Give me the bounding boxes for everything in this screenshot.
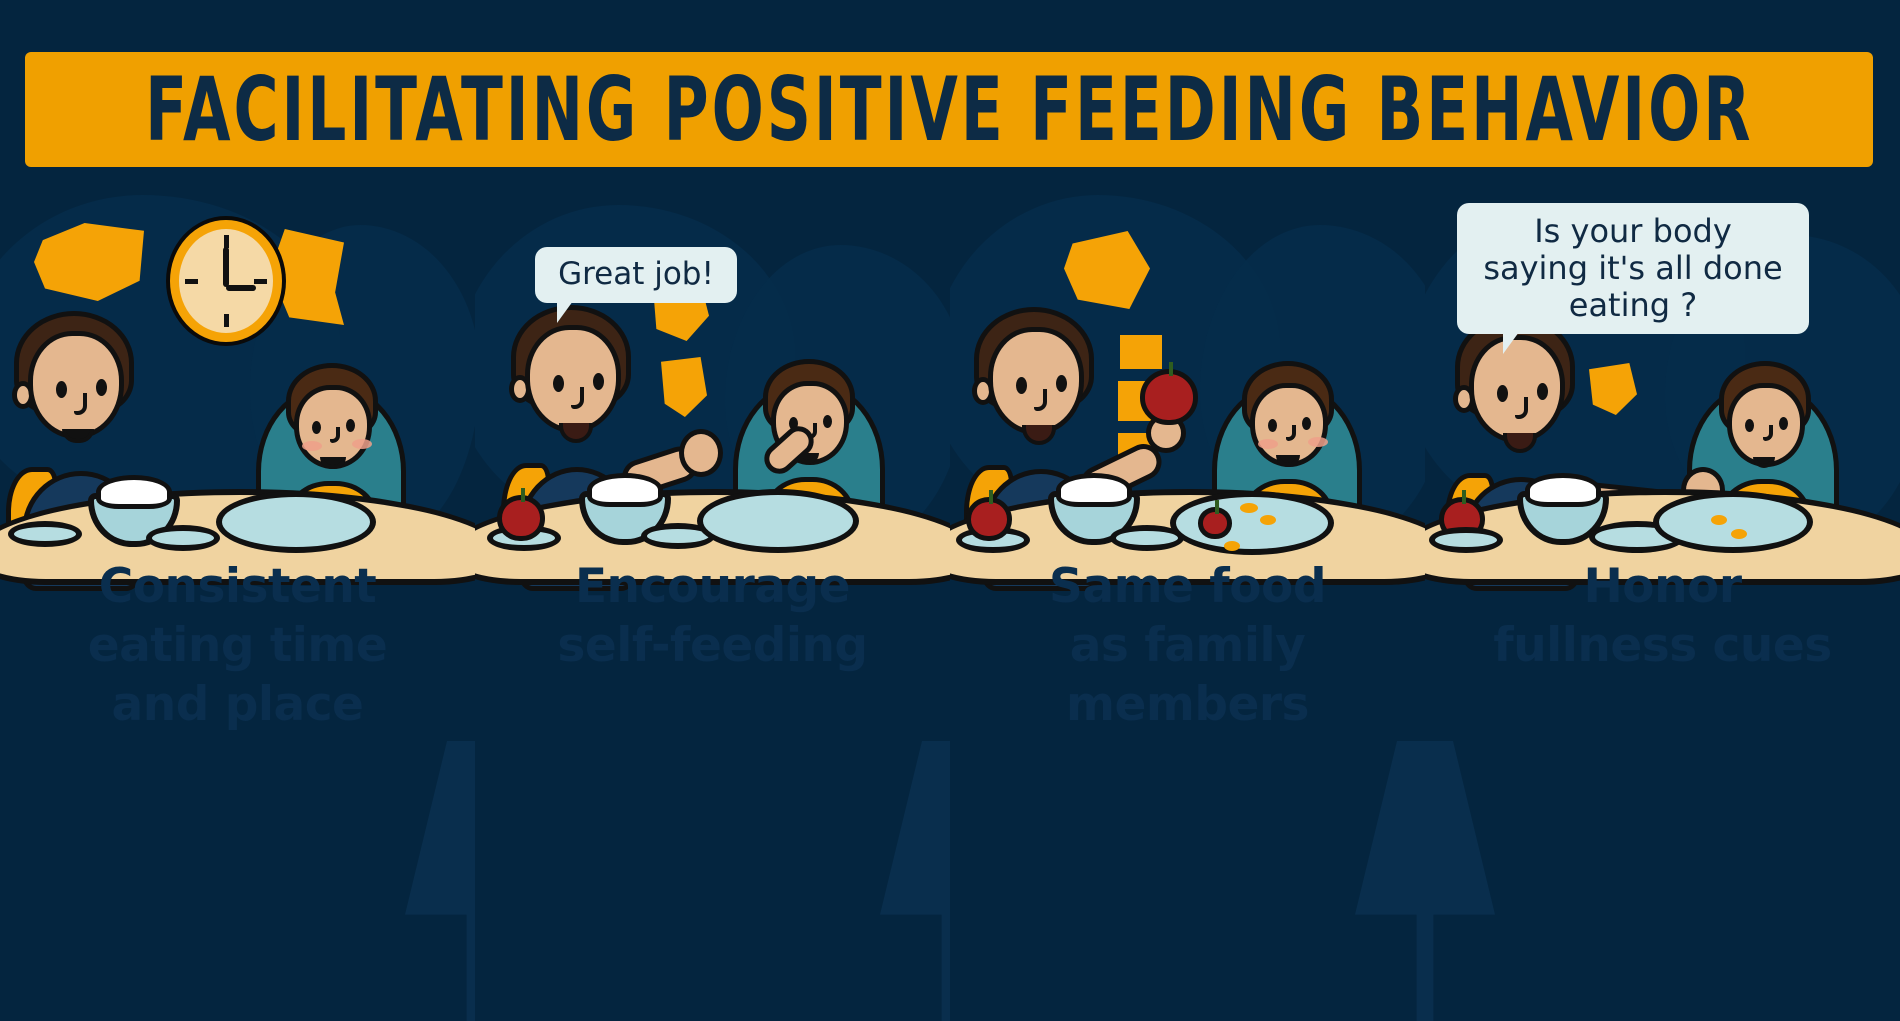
plate — [8, 521, 82, 547]
scene-illustration — [0, 185, 475, 585]
panel-caption: Honor fullness cues — [1425, 557, 1900, 675]
scene-illustration — [475, 185, 950, 585]
small-plate — [1429, 527, 1503, 553]
scene-illustration — [950, 185, 1425, 585]
food-crumb — [1260, 515, 1276, 525]
small-plate — [146, 525, 220, 551]
panel-same-food-as-family[interactable]: Same food as family members — [950, 185, 1425, 1021]
speech-bubble: Great job! — [535, 247, 737, 303]
orange-splotch — [34, 223, 144, 301]
food-crumb — [1224, 541, 1240, 551]
panel-honor-fullness-cues[interactable]: Is your body saying it's all done eating… — [1425, 185, 1900, 1021]
panel-caption: Consistent eating time and place — [0, 557, 475, 735]
orange-splotch — [1120, 335, 1162, 369]
clock-icon — [170, 220, 282, 342]
orange-splotch — [1589, 363, 1637, 415]
clapping-hand — [679, 429, 723, 477]
highchair-tray — [1170, 491, 1334, 555]
apple — [497, 495, 545, 541]
highchair-tray — [697, 489, 859, 553]
panel-caption: Encourage self-feeding — [475, 557, 950, 675]
rice — [96, 475, 172, 509]
highchair-tray — [1653, 491, 1813, 553]
orange-splotch — [1064, 231, 1150, 309]
title-banner: FACILITATING POSITIVE FEEDING BEHAVIOR — [25, 52, 1873, 167]
panel-consistent-eating[interactable]: Consistent eating time and place — [0, 185, 475, 1021]
rice — [1525, 473, 1601, 507]
panel-caption: Same food as family members — [950, 557, 1425, 735]
panel-divider — [880, 741, 950, 1021]
food-crumb — [1240, 503, 1258, 513]
apple-held — [1140, 369, 1198, 425]
apple — [966, 497, 1012, 541]
panel-divider — [1355, 741, 1425, 1021]
rice — [587, 473, 663, 507]
page-title: FACILITATING POSITIVE FEEDING BEHAVIOR — [145, 58, 1753, 162]
speech-bubble: Is your body saying it's all done eating… — [1457, 203, 1809, 334]
food-crumb — [1711, 515, 1727, 525]
rice — [1056, 473, 1132, 507]
highchair-tray — [216, 491, 376, 553]
infographic-poster: FACILITATING POSITIVE FEEDING BEHAVIOR — [0, 0, 1900, 1021]
orange-splotch — [661, 357, 707, 417]
apple-on-tray — [1198, 507, 1232, 539]
panel-divider — [405, 741, 475, 1021]
food-crumb — [1731, 529, 1747, 539]
panels-row: Consistent eating time and place — [0, 185, 1900, 1021]
panel-divider — [1425, 741, 1495, 1021]
panel-encourage-self-feeding[interactable]: Great job! Encourage self-feeding — [475, 185, 950, 1021]
